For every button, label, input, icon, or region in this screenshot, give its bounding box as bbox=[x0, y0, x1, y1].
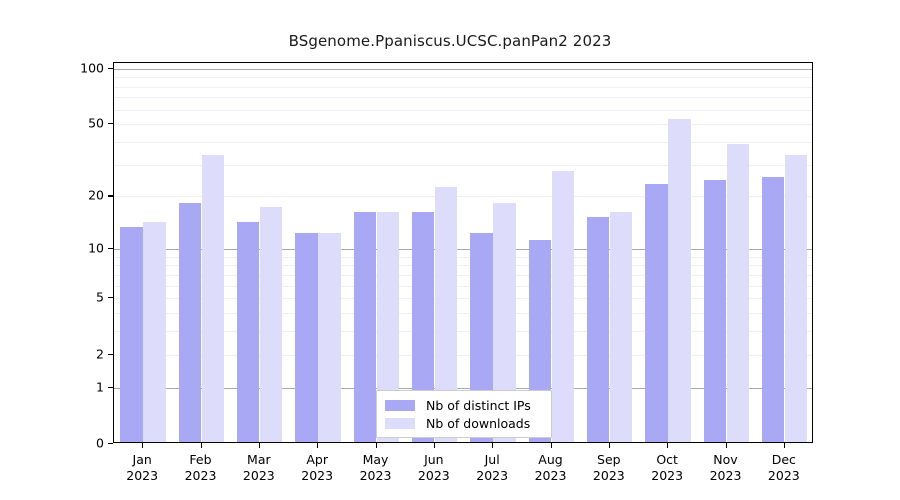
chart-figure: BSgenome.Ppaniscus.UCSC.panPan2 2023 100… bbox=[0, 0, 900, 500]
y-axis-tick-label: 0 bbox=[70, 436, 104, 451]
y-axis-tick-label: 1 bbox=[70, 379, 104, 394]
bar-distinct-ips bbox=[295, 233, 318, 442]
y-axis-tick-label: 5 bbox=[70, 290, 104, 305]
gridline-minor bbox=[114, 97, 812, 98]
gridline-minor bbox=[114, 124, 812, 125]
x-axis-tick-year: 2023 bbox=[749, 468, 819, 484]
x-axis-tick-mark bbox=[201, 443, 202, 448]
bar-distinct-ips bbox=[237, 222, 260, 442]
legend-swatch-distinct-ips bbox=[385, 400, 415, 411]
bar-downloads bbox=[727, 144, 750, 442]
chart-legend: Nb of distinct IPs Nb of downloads bbox=[376, 390, 552, 438]
gridline-minor bbox=[114, 87, 812, 88]
legend-label-downloads: Nb of downloads bbox=[426, 416, 530, 431]
bar-distinct-ips bbox=[120, 227, 143, 442]
x-axis-tick-mark bbox=[317, 443, 318, 448]
x-axis-tick-mark bbox=[551, 443, 552, 448]
legend-label-distinct-ips: Nb of distinct IPs bbox=[426, 398, 531, 413]
gridline-major bbox=[114, 69, 812, 70]
gridline-minor bbox=[114, 77, 812, 78]
x-axis-tick-mark bbox=[434, 443, 435, 448]
gridline-minor bbox=[114, 110, 812, 111]
gridline-minor bbox=[114, 142, 812, 143]
bar-distinct-ips bbox=[645, 184, 668, 442]
bar-distinct-ips bbox=[762, 177, 785, 442]
legend-item-downloads: Nb of downloads bbox=[385, 414, 543, 432]
bar-downloads bbox=[610, 212, 633, 442]
x-axis-tick-label: Dec2023 bbox=[749, 452, 819, 484]
x-axis-tick-month: Dec bbox=[749, 452, 819, 468]
x-axis-tick-mark bbox=[784, 443, 785, 448]
y-axis-tick-label: 10 bbox=[70, 241, 104, 256]
bar-downloads bbox=[785, 155, 808, 442]
x-axis-tick-mark bbox=[726, 443, 727, 448]
y-axis-tick-label: 20 bbox=[70, 188, 104, 203]
bar-downloads bbox=[143, 222, 166, 442]
bar-downloads bbox=[318, 233, 341, 442]
bar-distinct-ips bbox=[587, 217, 610, 442]
legend-swatch-downloads bbox=[385, 418, 415, 429]
x-axis-tick-mark bbox=[142, 443, 143, 448]
y-axis-tick-label: 2 bbox=[70, 346, 104, 361]
bar-distinct-ips bbox=[704, 180, 727, 442]
x-axis-tick-mark bbox=[667, 443, 668, 448]
bar-downloads bbox=[552, 171, 575, 442]
y-axis-tick-label: 100 bbox=[70, 60, 104, 75]
bar-distinct-ips bbox=[354, 212, 377, 442]
y-axis-tick-mark bbox=[108, 443, 113, 444]
x-axis-tick-mark bbox=[492, 443, 493, 448]
y-axis-tick-label: 50 bbox=[70, 116, 104, 131]
x-axis-tick-mark bbox=[259, 443, 260, 448]
bar-distinct-ips bbox=[179, 203, 202, 442]
bar-downloads bbox=[260, 207, 283, 442]
bar-downloads bbox=[668, 119, 691, 442]
y-axis-tick-labels: 1005020105210 bbox=[66, 0, 104, 500]
x-axis-tick-mark bbox=[376, 443, 377, 448]
plot-area bbox=[113, 62, 813, 443]
bar-downloads bbox=[202, 155, 225, 442]
legend-item-distinct-ips: Nb of distinct IPs bbox=[385, 396, 543, 414]
chart-title: BSgenome.Ppaniscus.UCSC.panPan2 2023 bbox=[0, 32, 900, 50]
x-axis-tick-mark bbox=[609, 443, 610, 448]
